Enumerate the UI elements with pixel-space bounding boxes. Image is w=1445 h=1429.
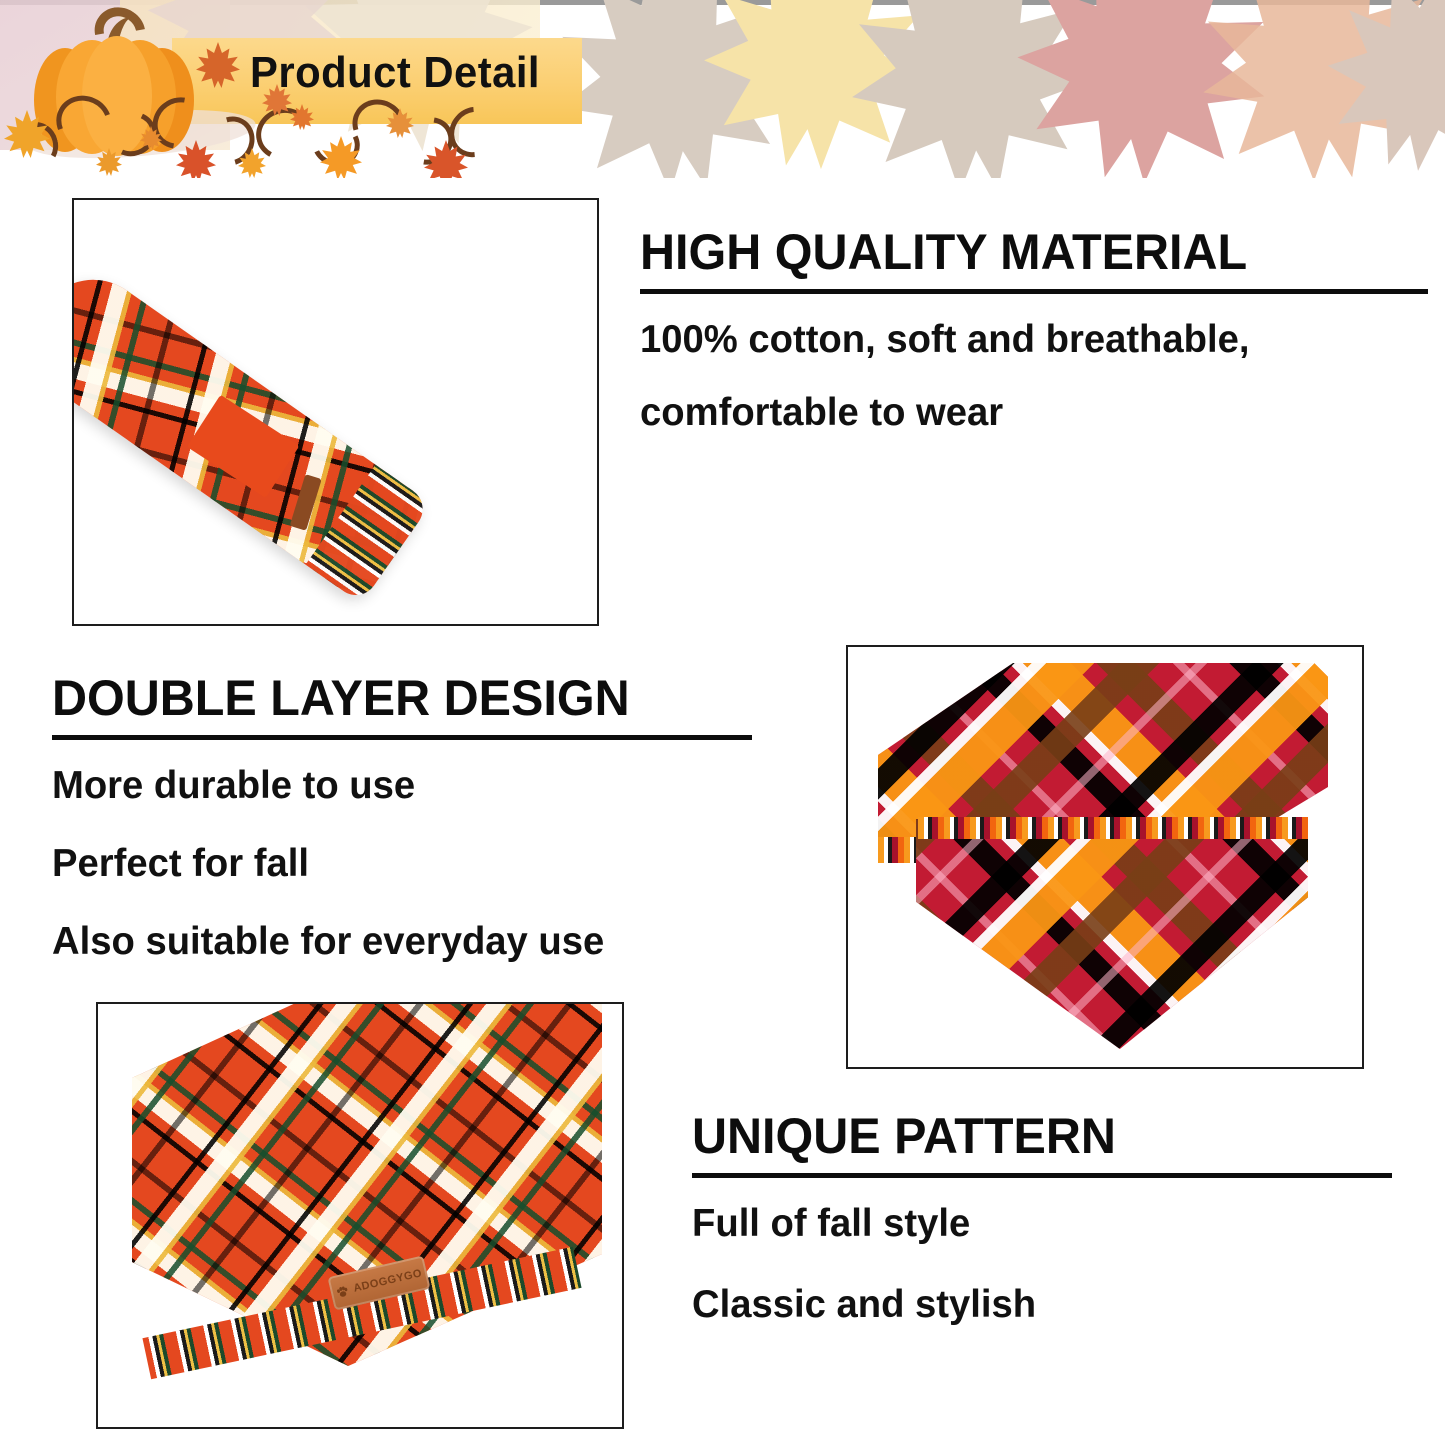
section-unique-pattern: UNIQUE PATTERN Full of fall style Classi… (692, 1110, 1392, 1366)
folded-bandana-illustration (856, 651, 1350, 1057)
section-body-line: Classic and stylish (692, 1285, 1378, 1324)
paw-print-icon (335, 1284, 351, 1300)
page-title: Product Detail (250, 48, 540, 98)
section-body: 100% cotton, soft and breathable, comfor… (640, 320, 1428, 432)
section-underline-rule (52, 735, 752, 740)
section-body: More durable to use Perfect for fall Als… (52, 766, 752, 961)
plaid-pattern (916, 819, 1308, 1049)
flat-plaid-bandana-photo: ADOGGYGO (96, 1002, 624, 1429)
fringe-edge (918, 817, 1308, 839)
rolled-plaid-scarf-photo (72, 198, 599, 626)
section-high-quality-material: HIGH QUALITY MATERIAL 100% cotton, soft … (640, 226, 1428, 466)
section-body: Full of fall style Classic and stylish (692, 1204, 1392, 1324)
section-body-line: comfortable to wear (640, 393, 1412, 432)
section-body-line: Perfect for fall (52, 844, 738, 883)
rolled-scarf-illustration (84, 206, 554, 606)
section-heading: HIGH QUALITY MATERIAL (640, 226, 1404, 279)
section-body-line: More durable to use (52, 766, 738, 805)
section-double-layer-design: DOUBLE LAYER DESIGN More durable to use … (52, 672, 752, 1000)
section-heading: DOUBLE LAYER DESIGN (52, 672, 731, 725)
folded-triangle-bandana-photo (846, 645, 1364, 1069)
section-body-line: Also suitable for everyday use (52, 922, 738, 961)
bandana-front-fold (916, 819, 1308, 1049)
flat-bandana-illustration: ADOGGYGO (102, 1006, 618, 1424)
maple-leaf-icon (841, 0, 1098, 178)
section-body-line: Full of fall style (692, 1204, 1378, 1243)
brand-tag-label: ADOGGYGO (352, 1267, 423, 1294)
section-underline-rule (692, 1173, 1392, 1178)
section-heading: UNIQUE PATTERN (692, 1110, 1371, 1163)
header-banner: Product Detail (0, 0, 1445, 178)
section-underline-rule (640, 289, 1428, 294)
section-body-line: 100% cotton, soft and breathable, (640, 320, 1412, 359)
rolled-scarf-body (72, 257, 431, 604)
